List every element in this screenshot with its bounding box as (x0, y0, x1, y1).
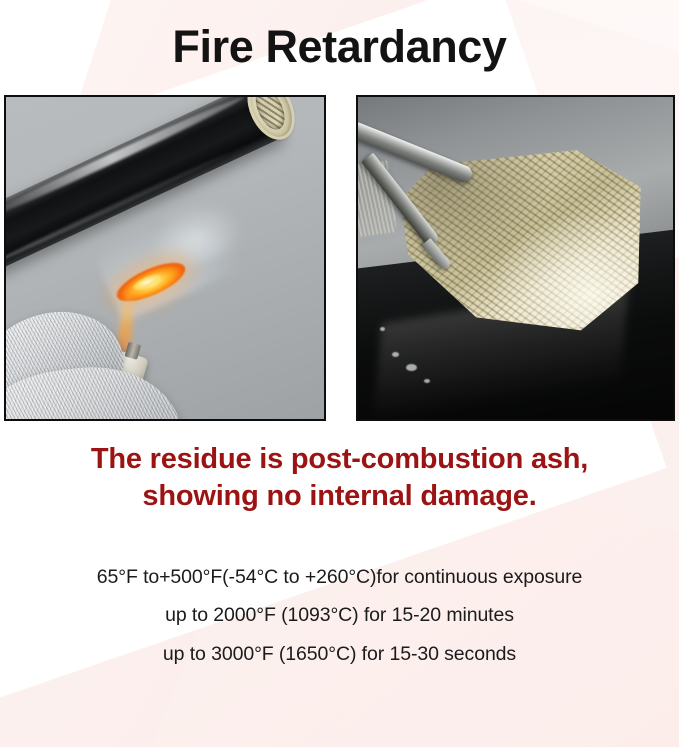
torch-photo-scene (6, 97, 324, 419)
water-droplet (424, 379, 430, 383)
page-title: Fire Retardancy (0, 21, 679, 73)
spec-line-2000f: up to 2000°F (1093°C) for 15-20 minutes (0, 596, 679, 634)
promotional-panel: Fire Retardancy (0, 0, 679, 747)
ash-photo-scene (358, 97, 673, 419)
spec-line-3000f: up to 3000°F (1650°C) for 15-30 seconds (0, 635, 679, 673)
headline-line-1: The residue is post-combustion ash, (0, 441, 679, 478)
temperature-spec-list: 65°F to+500°F(-54°C to +260°C)for contin… (0, 558, 679, 673)
water-droplet (392, 352, 399, 357)
headline: The residue is post-combustion ash, show… (0, 441, 679, 514)
water-droplet (406, 364, 417, 371)
spec-line-continuous-exposure: 65°F to+500°F(-54°C to +260°C)for contin… (0, 558, 679, 596)
lighter-nozzle (125, 342, 142, 360)
ash-residue-photo (356, 95, 675, 421)
torch-flame-test-photo (4, 95, 326, 421)
water-droplet (380, 327, 385, 331)
headline-line-2: showing no internal damage. (0, 478, 679, 515)
